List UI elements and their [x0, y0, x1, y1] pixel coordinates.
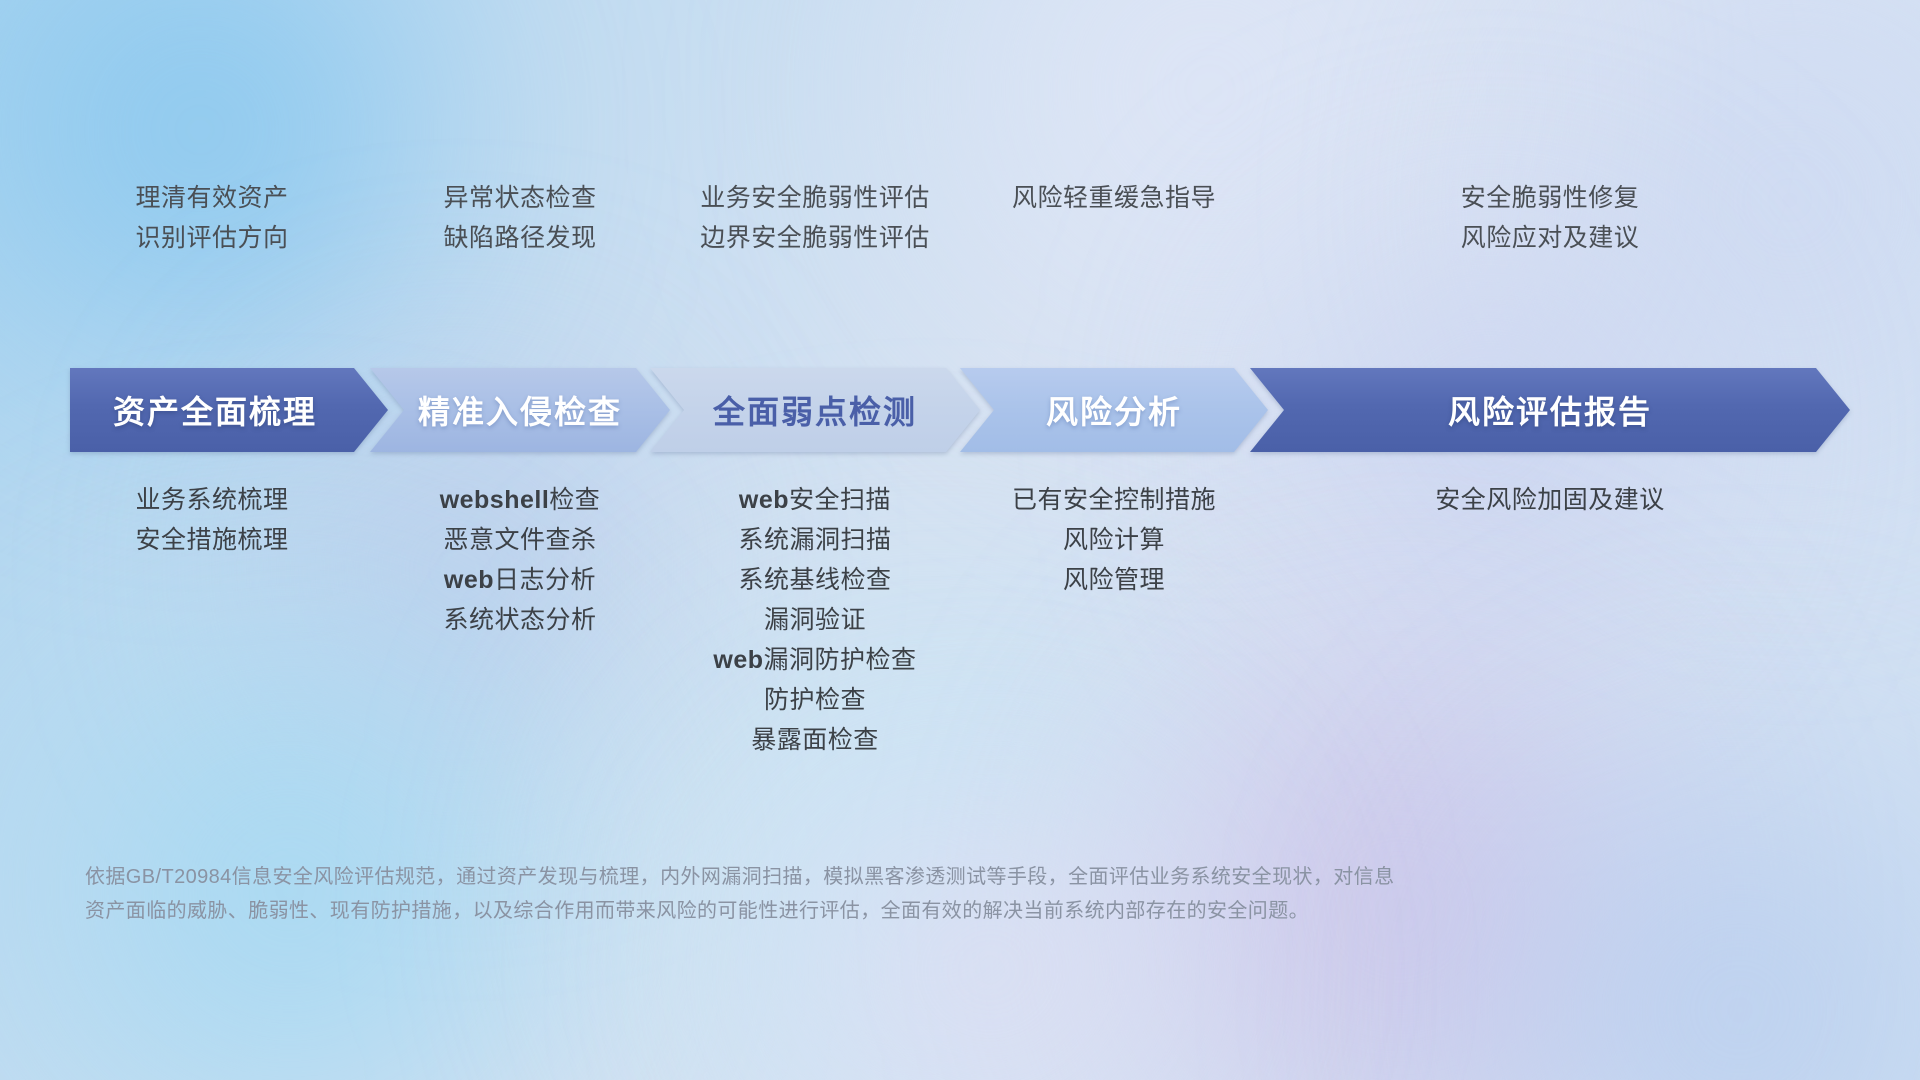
detail-item: web漏洞防护检查 [713, 640, 916, 680]
detail-item: 风险计算 [1063, 520, 1165, 560]
footer-description: 依据GB/T20984信息安全风险评估规范，通过资产发现与梳理，内外网漏洞扫描，… [85, 860, 1385, 928]
detail-item-en: web [713, 646, 763, 674]
detail-item-zh: 风险管理 [1063, 566, 1165, 594]
detail-item: 安全风险加固及建议 [1435, 480, 1665, 520]
detail-item-zh: 暴露面检查 [751, 726, 879, 754]
footer-line-1: 依据GB/T20984信息安全风险评估规范，通过资产发现与梳理，内外网漏洞扫描，… [85, 860, 1385, 894]
stage-title-2: 精准入侵检查 [370, 387, 670, 433]
detail-item-zh: 漏洞防护检查 [764, 646, 917, 674]
stage-chevron-5[interactable]: 风险评估报告 [1250, 368, 1850, 452]
detail-item: 防护检查 [764, 680, 866, 720]
stage-title-5: 风险评估报告 [1250, 387, 1850, 433]
stage-chevron-1[interactable]: 资产全面梳理 [70, 368, 388, 452]
process-diagram: 理清有效资产识别评估方向异常状态检查缺陷路径发现业务安全脆弱性评估边界安全脆弱性… [0, 0, 1920, 1080]
stage-chevron-3[interactable]: 全面弱点检测 [650, 368, 980, 452]
footer-line-2: 资产面临的威胁、脆弱性、现有防护措施，以及综合作用而带来风险的可能性进行评估，全… [85, 894, 1385, 928]
stage-chevron-4[interactable]: 风险分析 [960, 368, 1268, 452]
stage-title-1: 资产全面梳理 [70, 387, 388, 433]
stage-chevron-2[interactable]: 精准入侵检查 [370, 368, 670, 452]
top-labels-row: 理清有效资产识别评估方向异常状态检查缺陷路径发现业务安全脆弱性评估边界安全脆弱性… [0, 178, 1920, 288]
stage-chevron-banner: 资产全面梳理精准入侵检查全面弱点检测风险分析风险评估报告 [70, 368, 1850, 452]
stage-bottom-items-5: 安全风险加固及建议 [590, 480, 1920, 520]
detail-item-zh: 漏洞验证 [764, 606, 866, 634]
stage-title-3: 全面弱点检测 [650, 387, 980, 433]
top-label: 风险应对及建议 [1461, 218, 1640, 258]
detail-item: 暴露面检查 [751, 720, 879, 760]
top-label: 安全脆弱性修复 [1461, 178, 1640, 218]
stage-title-4: 风险分析 [960, 387, 1268, 433]
detail-item: 漏洞验证 [764, 600, 866, 640]
detail-item-zh: 风险计算 [1063, 526, 1165, 554]
detail-item: 风险管理 [1063, 560, 1165, 600]
detail-item-zh: 安全风险加固及建议 [1435, 486, 1665, 514]
detail-item-zh: 防护检查 [764, 686, 866, 714]
stage-top-labels-5: 安全脆弱性修复风险应对及建议 [590, 178, 1920, 258]
